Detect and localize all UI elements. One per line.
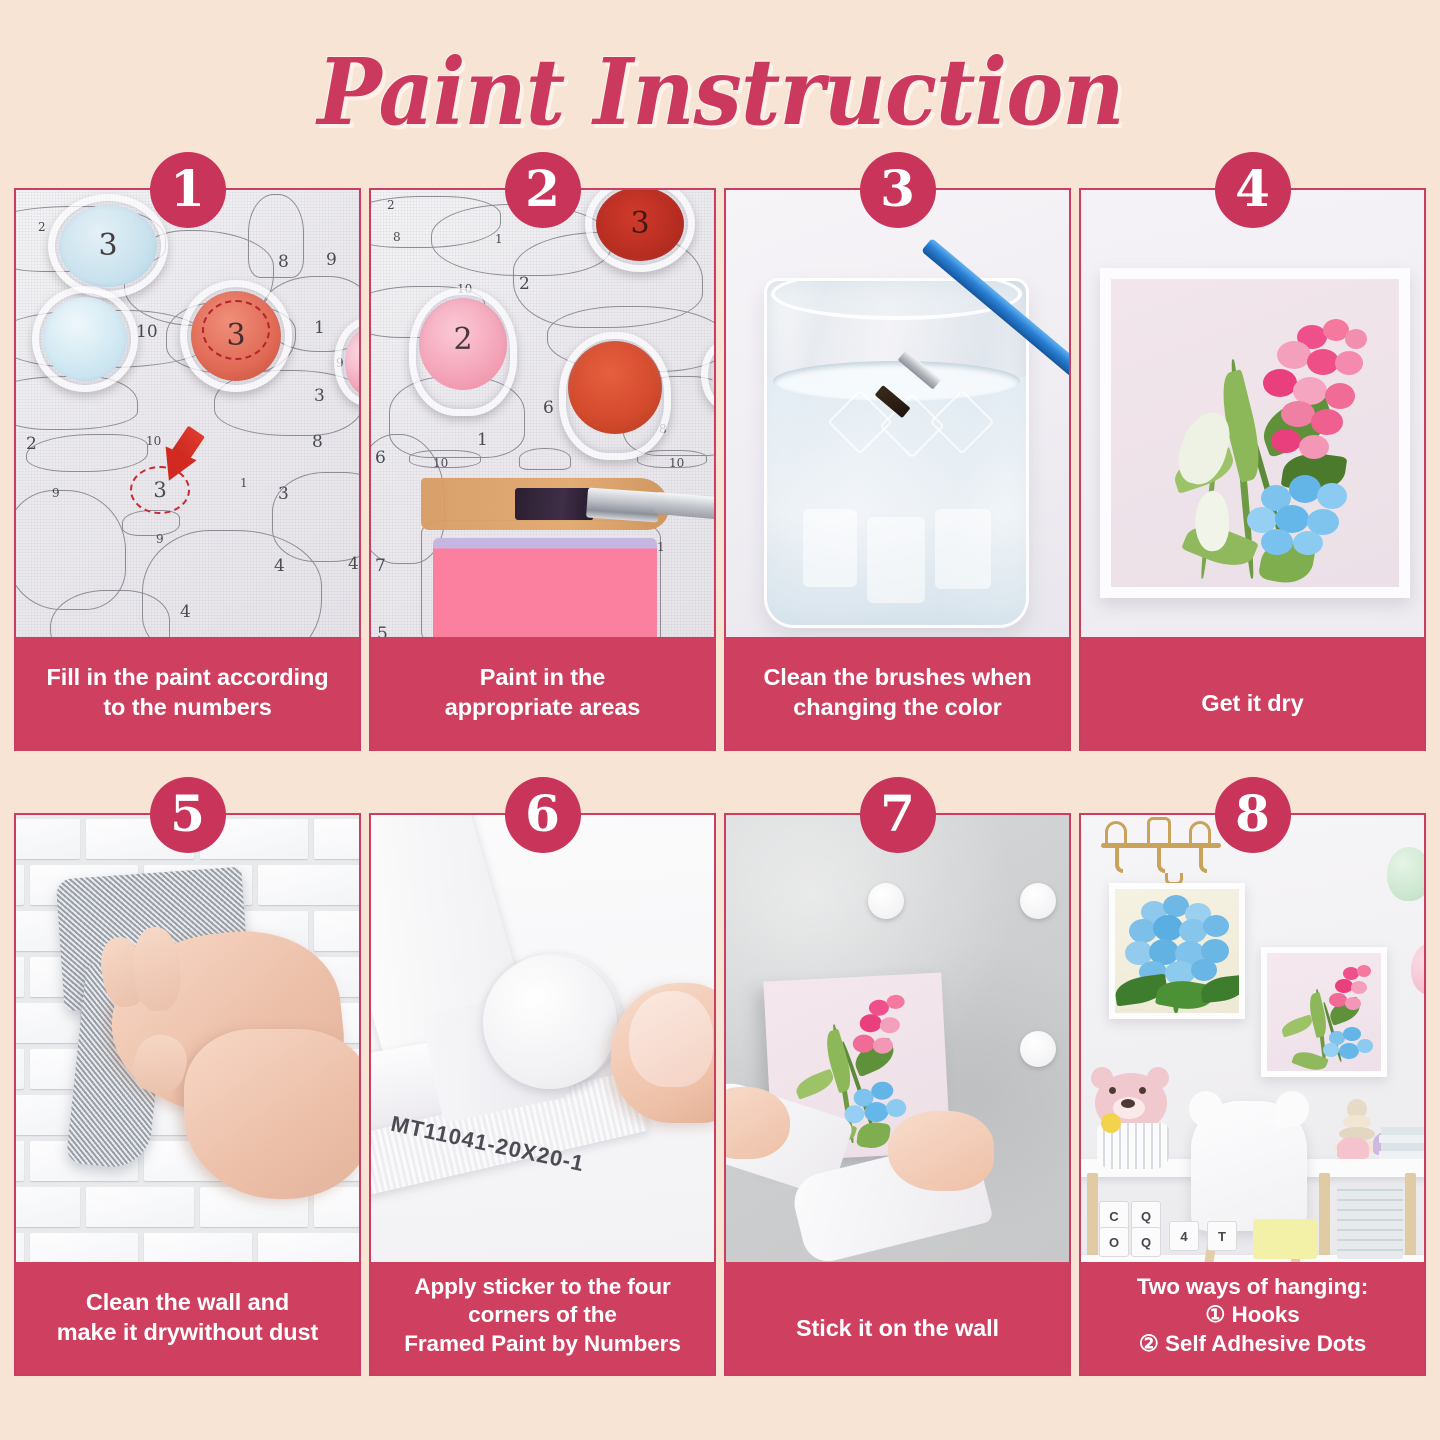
canvas-number: 2 (38, 220, 46, 234)
paint-pot: 2 (409, 288, 517, 416)
step-image-7 (726, 815, 1069, 1262)
thumbnail (629, 991, 713, 1087)
wall-tile (314, 819, 359, 859)
step-caption-6: Apply sticker to the four corners of the… (371, 1262, 714, 1374)
paint-brush (509, 474, 714, 534)
canvas-number: 1 (314, 318, 325, 338)
step-image-2: 2 8 1 10 2 6 8 1 6 10 7 10 5 1 1 (371, 190, 714, 637)
wall-tile (258, 1233, 359, 1262)
brush-handle (921, 238, 1069, 377)
step-caption-7: Stick it on the wall (726, 1262, 1069, 1374)
instruction-step-5[interactable]: 5 (14, 813, 361, 1376)
adhesive-dot-on-wall (868, 883, 904, 919)
hook-loop-icon (1147, 817, 1171, 843)
instruction-step-3[interactable]: 3 Cle (724, 188, 1071, 751)
instruction-step-8[interactable]: 8 (1079, 813, 1426, 1376)
canvas-region (248, 194, 304, 278)
paint-pot: 3 (48, 194, 168, 298)
wall-hook-icon (1115, 847, 1123, 873)
pink-petal (859, 1014, 882, 1033)
step-image-6: MT11041-20X20-1 (371, 815, 714, 1262)
brush-bristles (875, 385, 911, 418)
canvas-number: 4 (348, 554, 359, 574)
canvas-number: 2 (26, 434, 37, 454)
glass-facet-icon (803, 509, 857, 587)
wall-tile (30, 1233, 138, 1262)
canvas-number: 1 (477, 430, 488, 450)
blue-petal (1357, 1039, 1373, 1053)
canvas-number: 4 (274, 556, 285, 576)
blue-petal (1343, 1027, 1361, 1041)
canvas-number: 10 (146, 434, 161, 448)
step-caption-8: Two ways of hanging: ① Hooks ② Self Adhe… (1081, 1262, 1424, 1374)
pot-rim (559, 332, 671, 460)
instruction-step-6[interactable]: 6 MT11041-20X20-1 Apply sticker to the f… (369, 813, 716, 1376)
pink-petal (1277, 341, 1311, 369)
canvas-number: 3 (278, 484, 289, 504)
pink-petal (1263, 369, 1297, 397)
canvas-number: 5 (377, 624, 388, 637)
wall-tile (16, 865, 24, 905)
canvas-number: 9 (52, 486, 60, 500)
desk-leg (1087, 1173, 1098, 1262)
hand-right (888, 1111, 994, 1191)
pink-petal (1345, 997, 1361, 1010)
blue-petal (1339, 1043, 1359, 1059)
step-number-badge-7: 7 (860, 777, 936, 853)
wall-tile (16, 1049, 24, 1089)
wall-tile (258, 865, 359, 905)
canvas-number: 6 (375, 448, 386, 468)
pink-petal (1357, 965, 1371, 977)
canvas-number: 2 (387, 198, 395, 212)
step-image-3 (726, 190, 1069, 637)
canvas-region (122, 510, 180, 536)
wall-tile (16, 957, 24, 997)
step-image-8: C Q O Q 4 T (1081, 815, 1424, 1262)
step-image-4 (1081, 190, 1424, 637)
flower-decoration (1101, 1113, 1121, 1133)
chair-ear (1189, 1091, 1223, 1127)
blue-petal (1293, 531, 1323, 555)
target-region-number: 3 (132, 468, 188, 512)
page-title: Paint Instruction (0, 0, 1440, 150)
painted-canvas (1111, 279, 1399, 587)
wall-tile (16, 1141, 24, 1181)
blue-petal (886, 1098, 907, 1117)
leaf (856, 1120, 891, 1150)
wall-tile (314, 1187, 359, 1227)
lilac-canvas (1267, 953, 1381, 1071)
instruction-step-1[interactable]: 1 2 8 9 (14, 188, 361, 751)
adhesive-dot-sticker-front[interactable] (483, 955, 617, 1089)
wall-tile (144, 1233, 252, 1262)
adhesive-dot-on-wall (1020, 1031, 1056, 1067)
mushroom-toy (1337, 1137, 1369, 1159)
step-caption-4: Get it dry (1081, 637, 1424, 749)
flower-stem (1173, 985, 1179, 1013)
canvas-number: 8 (393, 230, 401, 244)
hydrangea-canvas (1115, 889, 1239, 1013)
wall-tile (16, 1233, 24, 1262)
step-number-badge-4: 4 (1215, 152, 1291, 228)
teddy-bear-eye (1139, 1087, 1146, 1094)
canvas-number: 7 (375, 556, 386, 576)
instruction-row-1: 1 2 8 9 (14, 188, 1426, 751)
instruction-step-2[interactable]: 2 2 8 1 10 2 6 8 (369, 188, 716, 751)
blue-petal (1323, 1043, 1339, 1057)
alphabet-block: 4 (1169, 1221, 1199, 1251)
canvas-number: 3 (314, 386, 325, 406)
alphabet-block: Q (1131, 1227, 1161, 1257)
wall-hook-icon (1199, 847, 1207, 873)
chair-ear (1275, 1091, 1309, 1127)
paint-pot (32, 286, 138, 392)
step-caption-2: Paint in the appropriate areas (371, 637, 714, 749)
wall-tile (16, 819, 80, 859)
paint-pot (559, 332, 671, 460)
blue-petal (1191, 959, 1217, 981)
wall-painting-right[interactable] (1261, 947, 1387, 1077)
magazine-rack (1337, 1187, 1403, 1259)
canvas-number: 6 (543, 398, 554, 418)
desk-leg (1319, 1173, 1330, 1262)
blue-petal (1317, 483, 1347, 509)
canvas-number: 2 (519, 274, 530, 294)
pot-number: 2 (409, 322, 517, 357)
step-number-badge-8: 8 (1215, 777, 1291, 853)
teddy-bear-ear (1091, 1067, 1113, 1089)
canvas-number: 8 (312, 432, 323, 452)
alphabet-block: T (1207, 1221, 1237, 1251)
brush-ferrule (586, 488, 660, 523)
paint-brush-blue (836, 220, 1069, 480)
step-caption-3: Clean the brushes when changing the colo… (726, 637, 1069, 749)
alphabet-block: O (1099, 1227, 1129, 1257)
white-bud (1173, 407, 1236, 490)
blue-petal (864, 1101, 889, 1122)
canvas-region (26, 434, 148, 472)
target-region-dashed-circle[interactable]: 3 (130, 466, 190, 514)
canvas-number: 1 (657, 540, 665, 554)
adhesive-dot-on-wall (1020, 883, 1056, 919)
paint-swatch-pink (433, 538, 657, 637)
canvas-number: 1 (495, 232, 503, 246)
pink-petal (1335, 351, 1363, 375)
brush-bristles (515, 488, 593, 520)
instruction-row-2: 5 (14, 813, 1426, 1376)
canvas-number: 10 (136, 322, 158, 342)
canvas-number: 9 (156, 532, 164, 546)
hook-loop-icon (1189, 821, 1211, 843)
teddy-bear-ear (1147, 1067, 1169, 1089)
canvas-number: 8 (278, 252, 289, 272)
pink-petal (1325, 383, 1355, 409)
canvas-region (519, 448, 571, 470)
wall-painting-left[interactable] (1109, 883, 1245, 1019)
instruction-step-4[interactable]: 4 (1079, 188, 1426, 751)
pink-petal (1299, 435, 1329, 459)
book (1379, 1151, 1424, 1159)
teddy-bear-eye (1109, 1087, 1116, 1094)
brush-handle (654, 492, 714, 522)
wall-hook-icon (1157, 847, 1165, 873)
wall-tile (86, 1187, 194, 1227)
blue-petal (1289, 475, 1321, 503)
pink-petal (879, 1017, 900, 1034)
step-number-badge-5: 5 (150, 777, 226, 853)
teddy-bear-nose (1121, 1099, 1135, 1108)
yellow-tray (1253, 1219, 1317, 1259)
pot-rim (32, 286, 138, 392)
instruction-grid: 1 2 8 9 (0, 188, 1440, 1376)
glass-facet-icon (867, 517, 925, 603)
canvas-number: 10 (433, 456, 448, 470)
pink-petal (1271, 429, 1301, 453)
canvas-number: 10 (669, 456, 684, 470)
wall-tile (16, 1187, 80, 1227)
pink-petal (1345, 329, 1367, 349)
canvas-number: 4 (180, 602, 191, 622)
book (1379, 1135, 1424, 1143)
wall-tile (314, 911, 359, 951)
picture-frame (1100, 268, 1410, 598)
forearm (184, 1029, 359, 1199)
paint-pot-highlighted: 3 (180, 280, 292, 392)
page-title-text: Paint Instruction (317, 38, 1123, 146)
instruction-step-7[interactable]: 7 (724, 813, 1071, 1376)
blue-petal (1261, 529, 1293, 555)
canvas-number: 9 (326, 250, 337, 270)
leaf (793, 1069, 837, 1100)
blue-petal (871, 1081, 894, 1100)
pink-petal (1351, 981, 1367, 994)
book (1381, 1127, 1424, 1135)
step-caption-1: Fill in the paint according to the numbe… (16, 637, 359, 749)
brush-ferrule (898, 350, 942, 390)
leaf (1280, 1014, 1315, 1037)
step-number-badge-3: 3 (860, 152, 936, 228)
step-image-1: 2 8 9 10 1 9 3 2 10 8 9 1 3 9 4 4 4 (16, 190, 359, 637)
desk-leg (1405, 1173, 1416, 1262)
pot-number: 3 (48, 228, 168, 263)
glass-facet-icon (935, 509, 991, 589)
pink-petal (1311, 409, 1343, 435)
pot-number: 3 (585, 206, 695, 241)
pot-highlight-dashed-circle (202, 300, 270, 360)
step-number-badge-1: 1 (150, 152, 226, 228)
step-image-5 (16, 815, 359, 1262)
book (1381, 1143, 1424, 1151)
pink-petal (1281, 401, 1315, 427)
canvas-number: 1 (240, 476, 248, 490)
step-number-badge-6: 6 (505, 777, 581, 853)
pink-petal (886, 994, 905, 1009)
step-caption-5: Clean the wall and make it drywithout du… (16, 1262, 359, 1374)
step-number-badge-2: 2 (505, 152, 581, 228)
blue-petal (1203, 915, 1229, 937)
balloon (1387, 847, 1424, 901)
hook-loop-icon (1105, 821, 1127, 843)
